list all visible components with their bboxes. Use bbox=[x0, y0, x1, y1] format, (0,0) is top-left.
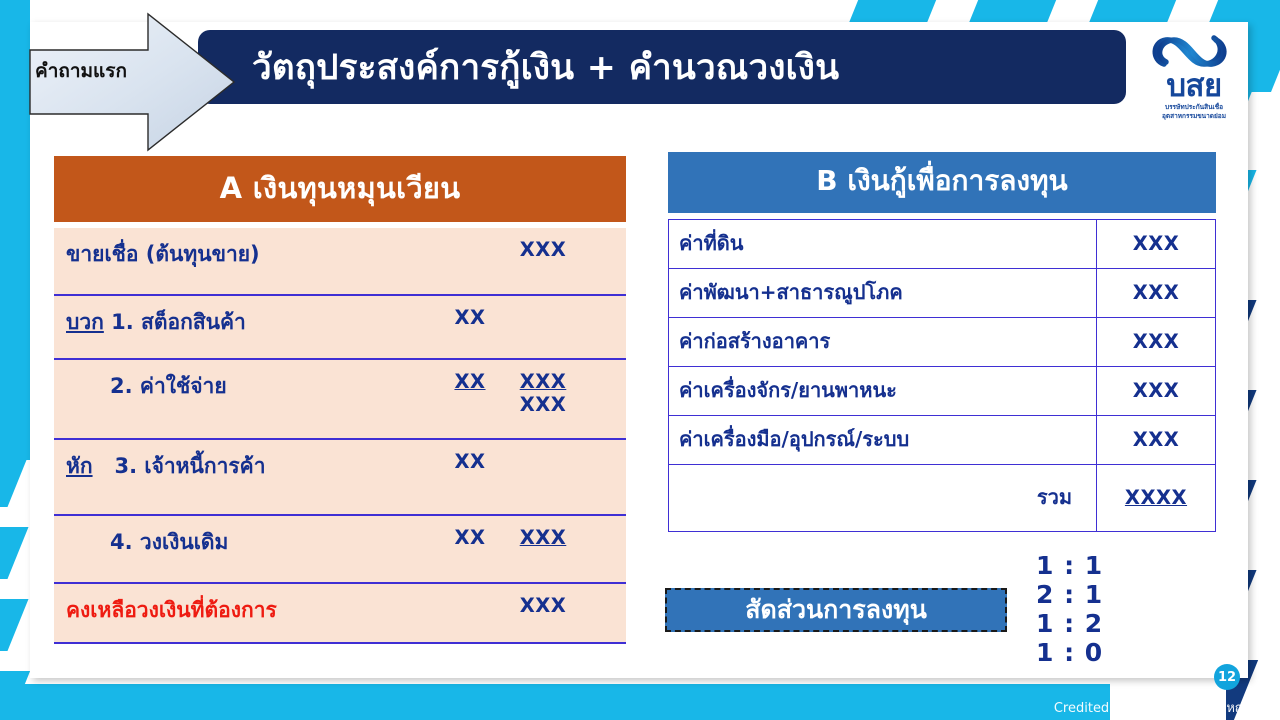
table-row-total: รวม XXXX bbox=[669, 465, 1216, 532]
total-label: รวม bbox=[669, 465, 1097, 532]
table-row: 4. วงเงินเดิม XX XXX bbox=[54, 514, 626, 582]
row-label: 2. ค่าใช้จ่าย bbox=[110, 374, 227, 398]
row-label: คงเหลือวงเงินที่ต้องการ bbox=[66, 598, 277, 622]
table-row: 2. ค่าใช้จ่าย XX XXX XXX bbox=[54, 358, 626, 438]
row-label: 1. สต็อกสินค้า bbox=[111, 310, 246, 334]
row-col1: XX bbox=[454, 306, 485, 329]
row-label: ค่าที่ดิน bbox=[669, 220, 1097, 269]
panel-a-body: ขายเชื่อ (ต้นทุนขาย) XXX บวก 1. สต็อกสิน… bbox=[54, 228, 626, 642]
panel-a: A เงินทุนหมุนเวียน ขายเชื่อ (ต้นทุนขาย) … bbox=[54, 156, 626, 644]
table-row: บวก 1. สต็อกสินค้า XX bbox=[54, 294, 626, 358]
row-col2: XXX bbox=[520, 370, 567, 393]
ratio-item: 2 : 1 bbox=[1036, 580, 1156, 609]
credit-text: Credited by บสย. สำนักงานใหญ่ bbox=[0, 696, 1280, 720]
table-row: ขายเชื่อ (ต้นทุนขาย) XXX bbox=[54, 228, 626, 294]
row-col2: XXX bbox=[520, 594, 567, 617]
row-col2-extra: XXX bbox=[520, 393, 567, 416]
investment-ratio-button[interactable]: สัดส่วนการลงทุน bbox=[665, 588, 1007, 632]
row-label: ขายเชื่อ (ต้นทุนขาย) bbox=[66, 242, 260, 266]
page-title: วัตถุประสงค์การกู้เงิน + คำนวณวงเงิน bbox=[252, 40, 839, 95]
row-col1: XX bbox=[454, 370, 485, 393]
row-col1: XX bbox=[454, 450, 485, 473]
header-banner: วัตถุประสงค์การกู้เงิน + คำนวณวงเงิน bbox=[198, 30, 1126, 104]
panel-a-heading: A เงินทุนหมุนเวียน bbox=[54, 156, 626, 222]
row-value: XXX bbox=[1097, 318, 1216, 367]
table-row: ค่าเครื่องมือ/อุปกรณ์/ระบบ XXX bbox=[669, 416, 1216, 465]
logo-subtitle-2: อุตสาหกรรมขนาดย่อม bbox=[1142, 112, 1246, 120]
row-label: 4. วงเงินเดิม bbox=[110, 530, 228, 554]
row-label: ค่าเครื่องมือ/อุปกรณ์/ระบบ bbox=[669, 416, 1097, 465]
logo-wordmark: บสย bbox=[1142, 72, 1246, 101]
row-label: ค่าก่อสร้างอาคาร bbox=[669, 318, 1097, 367]
panel-a-bottom-rule bbox=[54, 642, 626, 644]
ratio-list: 1 : 1 2 : 1 1 : 2 1 : 0 bbox=[1036, 551, 1156, 667]
table-row: ค่าพัฒนา+สาธารณูปโภค XXX bbox=[669, 269, 1216, 318]
row-col2: XXX bbox=[520, 526, 567, 549]
panel-b-table: ค่าที่ดิน XXX ค่าพัฒนา+สาธารณูปโภค XXX ค… bbox=[668, 219, 1216, 532]
panel-b-heading: B เงินกู้เพื่อการลงทุน bbox=[668, 152, 1216, 213]
ratio-item: 1 : 2 bbox=[1036, 609, 1156, 638]
table-row: หัก 3. เจ้าหนี้การค้า XX bbox=[54, 438, 626, 514]
row-label: ค่าพัฒนา+สาธารณูปโภค bbox=[669, 269, 1097, 318]
row-col2: XXX bbox=[520, 238, 567, 261]
row-prefix: บวก bbox=[66, 310, 104, 334]
page-number-badge: 12 bbox=[1214, 664, 1240, 690]
row-label: ค่าเครื่องจักร/ยานพาหนะ bbox=[669, 367, 1097, 416]
table-row: คงเหลือวงเงินที่ต้องการ XXX bbox=[54, 582, 626, 642]
ratio-item: 1 : 0 bbox=[1036, 638, 1156, 667]
table-row: ค่าที่ดิน XXX bbox=[669, 220, 1216, 269]
callout-label: คำถามแรก bbox=[22, 56, 140, 86]
total-value: XXXX bbox=[1097, 465, 1216, 532]
row-label: 3. เจ้าหนี้การค้า bbox=[115, 454, 266, 478]
slide-canvas: Credited by บสย. สำนักงานใหญ่ วัตถุประสง… bbox=[0, 0, 1280, 720]
table-row: ค่าก่อสร้างอาคาร XXX bbox=[669, 318, 1216, 367]
logo: บสย บรรษัทประกันสินเชื่อ อุตสาหกรรมขนาดย… bbox=[1142, 30, 1246, 120]
row-col1: XX bbox=[454, 526, 485, 549]
ratio-item: 1 : 1 bbox=[1036, 551, 1156, 580]
row-value: XXX bbox=[1097, 269, 1216, 318]
row-value: XXX bbox=[1097, 416, 1216, 465]
table-row: ค่าเครื่องจักร/ยานพาหนะ XXX bbox=[669, 367, 1216, 416]
logo-subtitle-1: บรรษัทประกันสินเชื่อ bbox=[1142, 103, 1246, 111]
row-value: XXX bbox=[1097, 220, 1216, 269]
row-value: XXX bbox=[1097, 367, 1216, 416]
panel-b: B เงินกู้เพื่อการลงทุน ค่าที่ดิน XXX ค่า… bbox=[668, 152, 1216, 532]
row-prefix: หัก bbox=[66, 454, 93, 478]
